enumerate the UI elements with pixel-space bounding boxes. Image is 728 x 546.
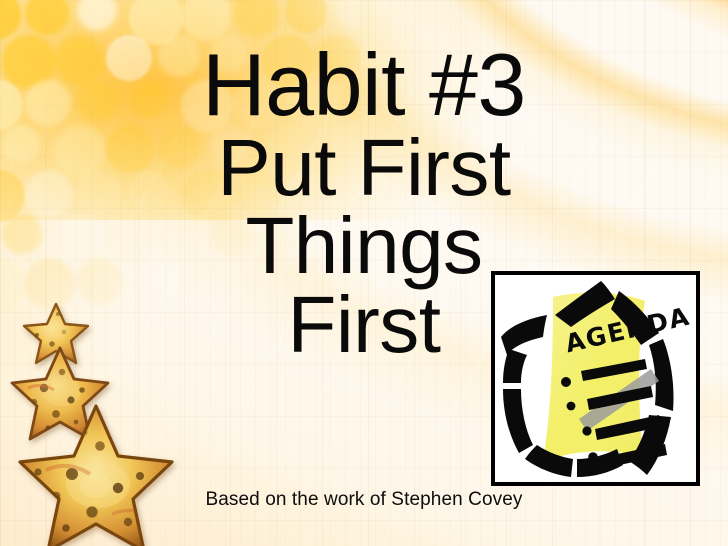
agenda-notepad-illustration: AGENDA — [495, 275, 696, 482]
title-line-2: Put First — [0, 129, 728, 208]
title-line-1: Habit #3 — [0, 42, 728, 129]
slide-subtitle: Based on the work of Stephen Covey — [0, 489, 728, 511]
agenda-image-frame: AGENDA — [491, 271, 700, 486]
slide-canvas: Habit #3 Put First Things First Based on… — [0, 0, 728, 546]
